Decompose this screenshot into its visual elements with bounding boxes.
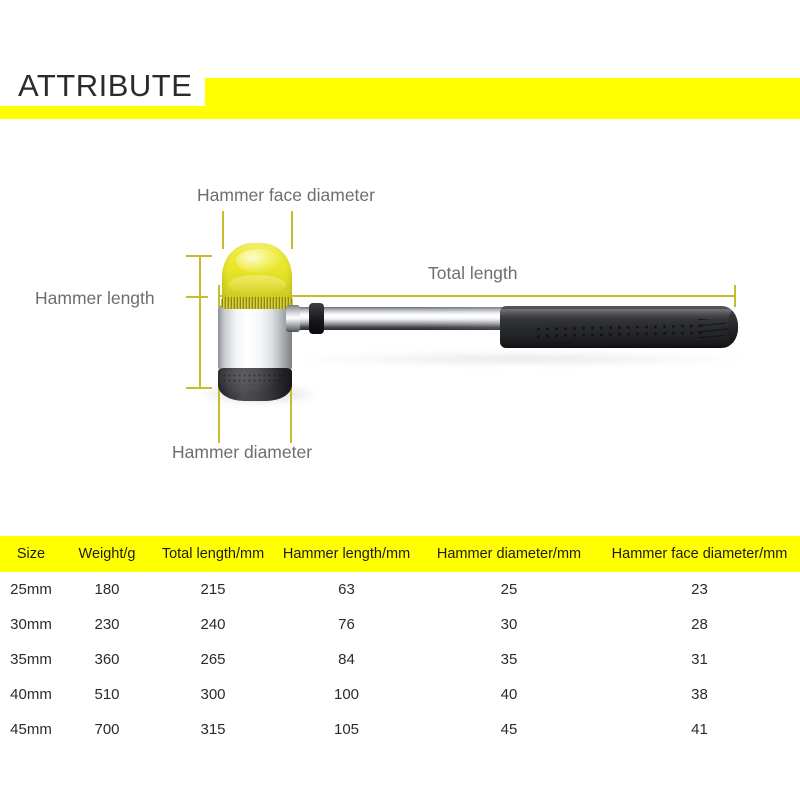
cell-weight: 230 — [62, 607, 152, 642]
table-row: 30mm 230 240 76 30 28 — [0, 607, 800, 642]
rubber-texture — [222, 373, 288, 385]
page-title: ATTRIBUTE — [18, 67, 200, 105]
grip-end-cap — [728, 310, 738, 344]
cell-total-length: 315 — [152, 712, 274, 747]
table-row: 35mm 360 265 84 35 31 — [0, 642, 800, 677]
hammer-length-line — [199, 255, 201, 389]
cell-hammer-diameter: 35 — [419, 642, 599, 677]
cell-weight: 700 — [62, 712, 152, 747]
cell-hammer-diameter: 25 — [419, 572, 599, 607]
cell-hammer-length: 100 — [274, 677, 419, 712]
hammer-length-cap-top — [186, 255, 212, 257]
cell-weight: 510 — [62, 677, 152, 712]
chrome-barrel — [218, 305, 292, 370]
spec-table: Size Weight/g Total length/mm Hammer len… — [0, 536, 800, 747]
shaft-collar — [309, 303, 324, 334]
table-row: 40mm 510 300 100 40 38 — [0, 677, 800, 712]
hammer-length-tick-mid — [186, 296, 208, 298]
grip-line-texture — [698, 319, 728, 339]
hammer-length-cap-bottom — [186, 387, 212, 389]
page-header: ATTRIBUTE — [0, 0, 800, 125]
face-diameter-guide-left — [222, 211, 224, 249]
cell-size: 40mm — [0, 677, 62, 712]
column-header-hammer-length: Hammer length/mm — [274, 536, 419, 572]
cell-hammer-face-diameter: 28 — [599, 607, 800, 642]
label-total-length: Total length — [428, 263, 518, 283]
rubber-grip — [500, 306, 738, 348]
spec-table-wrapper: Size Weight/g Total length/mm Hammer len… — [0, 536, 800, 747]
cell-size: 25mm — [0, 572, 62, 607]
face-ring — [228, 275, 286, 295]
handle-shadow — [300, 352, 740, 366]
column-header-size: Size — [0, 536, 62, 572]
total-length-cap-right — [734, 285, 736, 307]
spec-table-body: 25mm 180 215 63 25 23 30mm 230 240 76 30… — [0, 572, 800, 747]
total-length-line — [218, 295, 736, 297]
shaft-socket — [286, 305, 300, 332]
total-length-cap-left — [218, 285, 220, 307]
spec-table-head: Size Weight/g Total length/mm Hammer len… — [0, 536, 800, 572]
label-hammer-face-diameter: Hammer face diameter — [197, 185, 375, 205]
table-header-row: Size Weight/g Total length/mm Hammer len… — [0, 536, 800, 572]
cell-hammer-diameter: 30 — [419, 607, 599, 642]
cell-hammer-diameter: 45 — [419, 712, 599, 747]
table-row: 45mm 700 315 105 45 41 — [0, 712, 800, 747]
cell-hammer-length: 63 — [274, 572, 419, 607]
cell-size: 30mm — [0, 607, 62, 642]
cell-total-length: 300 — [152, 677, 274, 712]
cell-hammer-length: 105 — [274, 712, 419, 747]
column-header-hammer-face-diameter: Hammer face diameter/mm — [599, 536, 800, 572]
cell-weight: 180 — [62, 572, 152, 607]
product-diagram: Hammer face diameter Total length Hammer… — [0, 125, 800, 525]
header-banner-strip — [0, 106, 800, 119]
cell-total-length: 215 — [152, 572, 274, 607]
cell-hammer-length: 84 — [274, 642, 419, 677]
cell-hammer-face-diameter: 38 — [599, 677, 800, 712]
cell-hammer-face-diameter: 41 — [599, 712, 800, 747]
grip-dot-texture — [534, 322, 704, 342]
knurled-ring — [221, 297, 293, 309]
table-row: 25mm 180 215 63 25 23 — [0, 572, 800, 607]
cell-total-length: 240 — [152, 607, 274, 642]
cell-size: 45mm — [0, 712, 62, 747]
column-header-weight: Weight/g — [62, 536, 152, 572]
header-banner-block — [205, 78, 800, 106]
cell-weight: 360 — [62, 642, 152, 677]
label-hammer-diameter: Hammer diameter — [172, 442, 312, 462]
cell-size: 35mm — [0, 642, 62, 677]
label-hammer-length: Hammer length — [35, 288, 155, 308]
cell-hammer-length: 76 — [274, 607, 419, 642]
cell-total-length: 265 — [152, 642, 274, 677]
column-header-hammer-diameter: Hammer diameter/mm — [419, 536, 599, 572]
hammer-illustration — [0, 125, 800, 525]
face-highlight — [236, 249, 280, 273]
face-diameter-guide-right — [291, 211, 293, 249]
cell-hammer-face-diameter: 31 — [599, 642, 800, 677]
column-header-total-length: Total length/mm — [152, 536, 274, 572]
cell-hammer-face-diameter: 23 — [599, 572, 800, 607]
cell-hammer-diameter: 40 — [419, 677, 599, 712]
